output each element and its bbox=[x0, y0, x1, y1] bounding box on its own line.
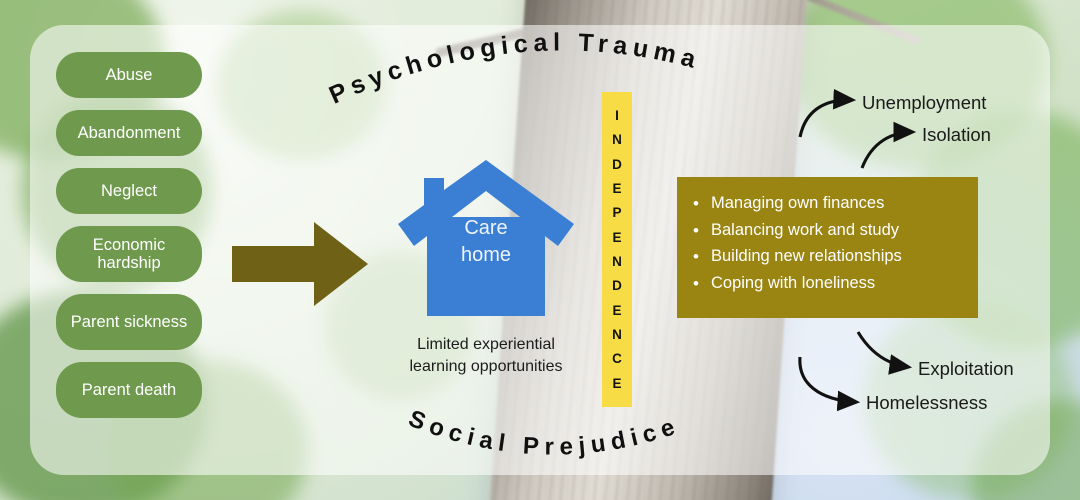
independence-letter: D bbox=[612, 158, 622, 172]
risk-factor-label: Neglect bbox=[101, 182, 157, 200]
care-home-house-icon bbox=[398, 160, 574, 316]
risk-factor-pill[interactable]: Parent sickness bbox=[56, 294, 202, 350]
challenge-item: Balancing work and study bbox=[711, 217, 964, 244]
independence-letter: N bbox=[612, 255, 622, 269]
risk-factor-label: Parent death bbox=[82, 381, 177, 399]
risk-factors-list: Abuse Abandonment Neglect Economic hards… bbox=[56, 52, 202, 430]
outcome-homelessness: Homelessness bbox=[866, 392, 987, 414]
outcome-unemployment: Unemployment bbox=[862, 92, 986, 114]
challenges-box: Managing own finances Balancing work and… bbox=[677, 177, 978, 318]
independence-letter: N bbox=[612, 328, 622, 342]
risk-factor-pill[interactable]: Abandonment bbox=[56, 110, 202, 156]
independence-bar: INDEPENDENCE bbox=[602, 92, 632, 407]
challenges-list: Managing own finances Balancing work and… bbox=[691, 190, 964, 297]
risk-factor-pill[interactable]: Abuse bbox=[56, 52, 202, 98]
risk-factor-pill[interactable]: Neglect bbox=[56, 168, 202, 214]
risk-factor-pill[interactable]: Parent death bbox=[56, 362, 202, 418]
outcome-isolation: Isolation bbox=[922, 124, 991, 146]
risk-factor-label: Abuse bbox=[106, 66, 153, 84]
risk-factor-label: Economic hardship bbox=[62, 236, 196, 273]
flow-arrow-right-icon bbox=[232, 222, 368, 306]
risk-factor-pill[interactable]: Economic hardship bbox=[56, 226, 202, 282]
independence-letter: N bbox=[612, 133, 622, 147]
risk-factor-label: Parent sickness bbox=[71, 313, 187, 331]
independence-letter: I bbox=[615, 109, 619, 123]
challenge-item: Coping with loneliness bbox=[711, 270, 964, 297]
independence-letter: D bbox=[612, 279, 622, 293]
independence-letter: E bbox=[612, 304, 621, 318]
risk-factor-label: Abandonment bbox=[78, 124, 181, 142]
independence-letter: P bbox=[612, 206, 621, 220]
independence-letter: E bbox=[612, 231, 621, 245]
care-home-caption-line1: Limited experiential bbox=[370, 334, 602, 356]
independence-letter: E bbox=[612, 182, 621, 196]
infographic-canvas: Abuse Abandonment Neglect Economic hards… bbox=[0, 0, 1080, 500]
independence-letter: E bbox=[612, 377, 621, 391]
care-home-caption: Limited experiential learning opportunit… bbox=[370, 334, 602, 377]
challenge-item: Building new relationships bbox=[711, 243, 964, 270]
independence-letter: C bbox=[612, 352, 622, 366]
care-home-caption-line2: learning opportunities bbox=[370, 356, 602, 378]
outcome-exploitation: Exploitation bbox=[918, 358, 1014, 380]
challenge-item: Managing own finances bbox=[711, 190, 964, 217]
